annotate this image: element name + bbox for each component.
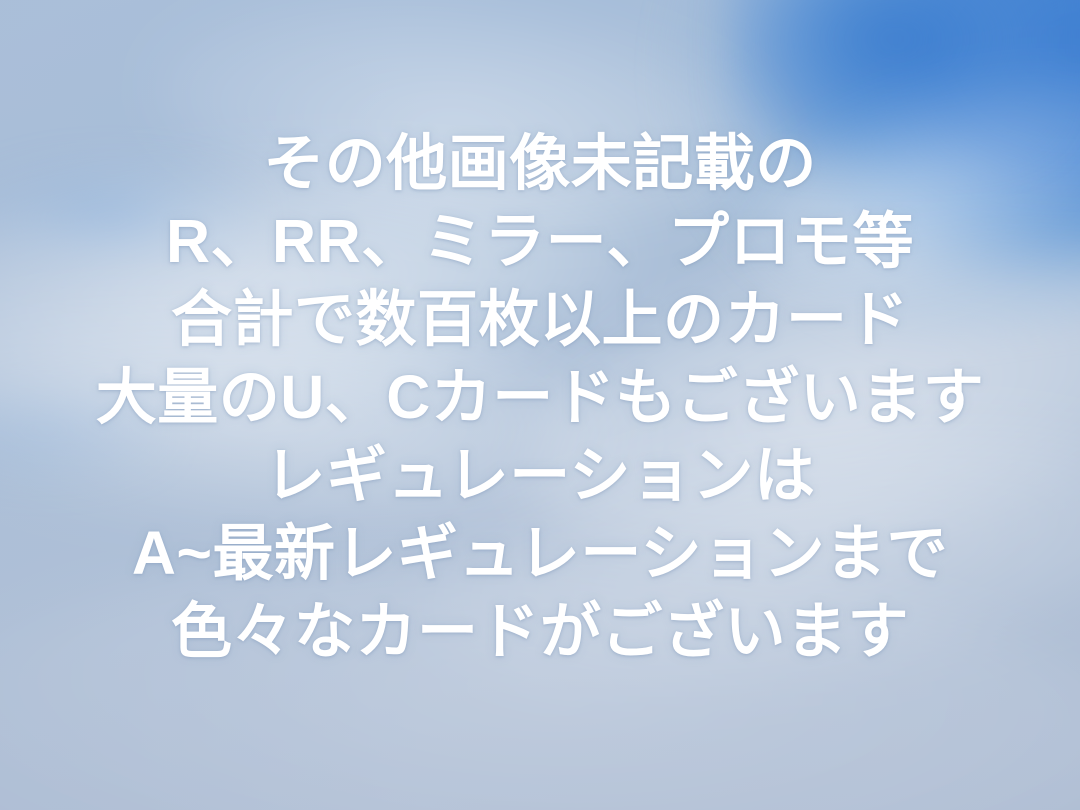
haze-bottom	[0, 390, 1080, 810]
image-canvas: その他画像未記載の R、RR、ミラー、プロモ等 合計で数百枚以上のカード 大量の…	[0, 0, 1080, 810]
